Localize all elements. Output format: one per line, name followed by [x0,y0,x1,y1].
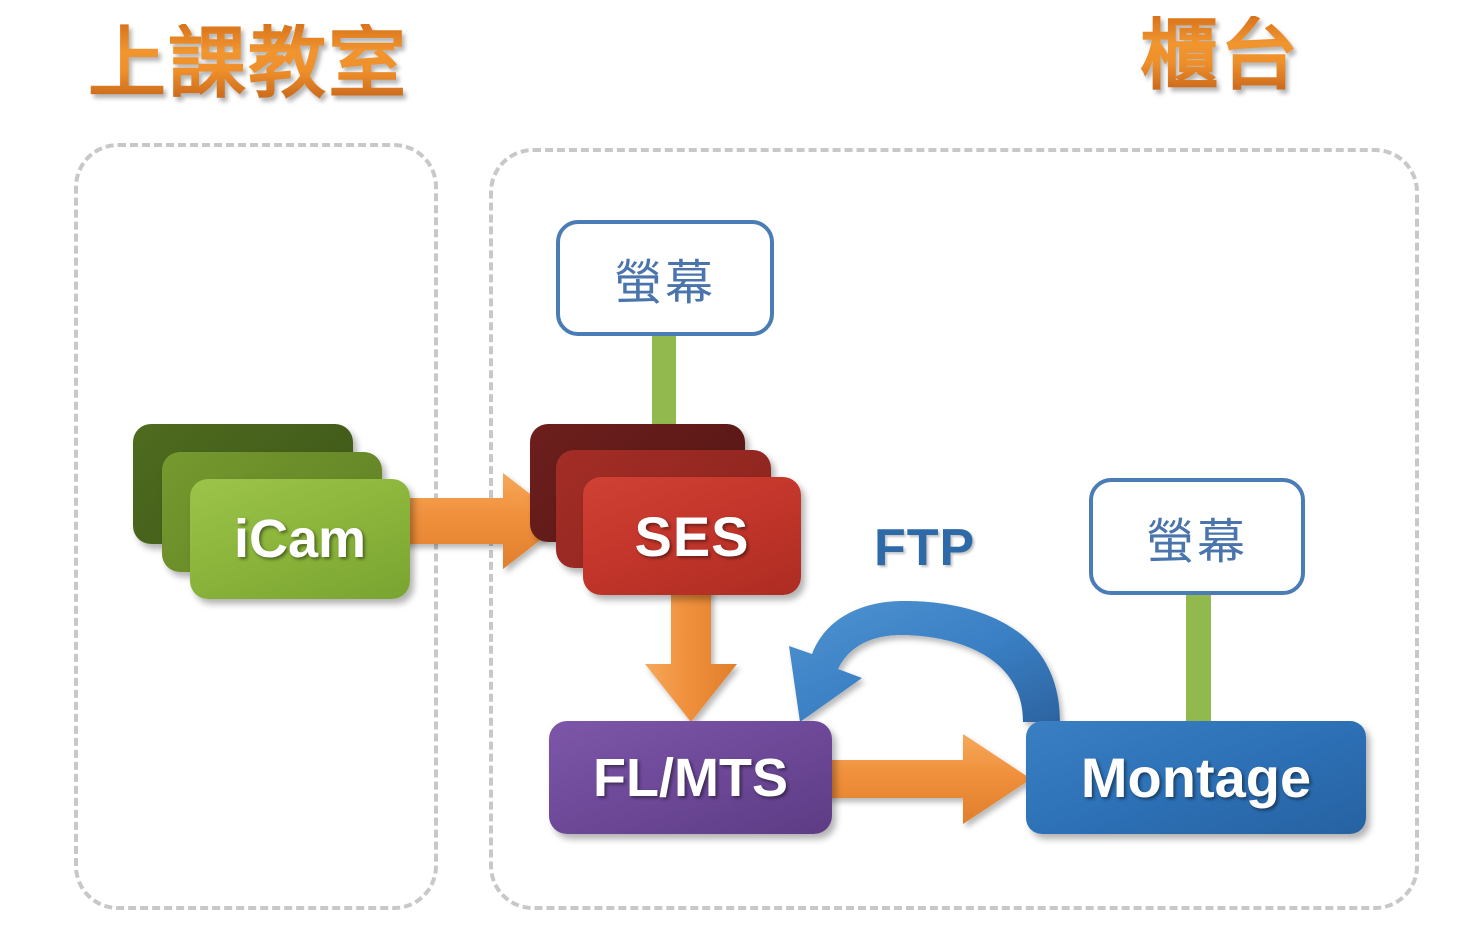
zone-title-classroom: 上課教室 [88,24,408,102]
node-icam[interactable]: iCam [190,479,410,599]
connection-label-ftp: FTP [874,518,975,578]
screen-box-right[interactable]: 螢幕 [1089,478,1305,595]
screen-box-left[interactable]: 螢幕 [556,220,774,336]
connector-screen-left-to-ses [652,333,676,433]
node-montage[interactable]: Montage [1026,721,1366,834]
connector-screen-right-to-montage [1186,592,1211,728]
zone-title-counter: 櫃台 [1140,16,1300,94]
node-ses[interactable]: SES [583,477,801,595]
diagram-canvas: 上課教室 櫃台 [0,0,1472,952]
node-flmts[interactable]: FL/MTS [549,721,832,834]
